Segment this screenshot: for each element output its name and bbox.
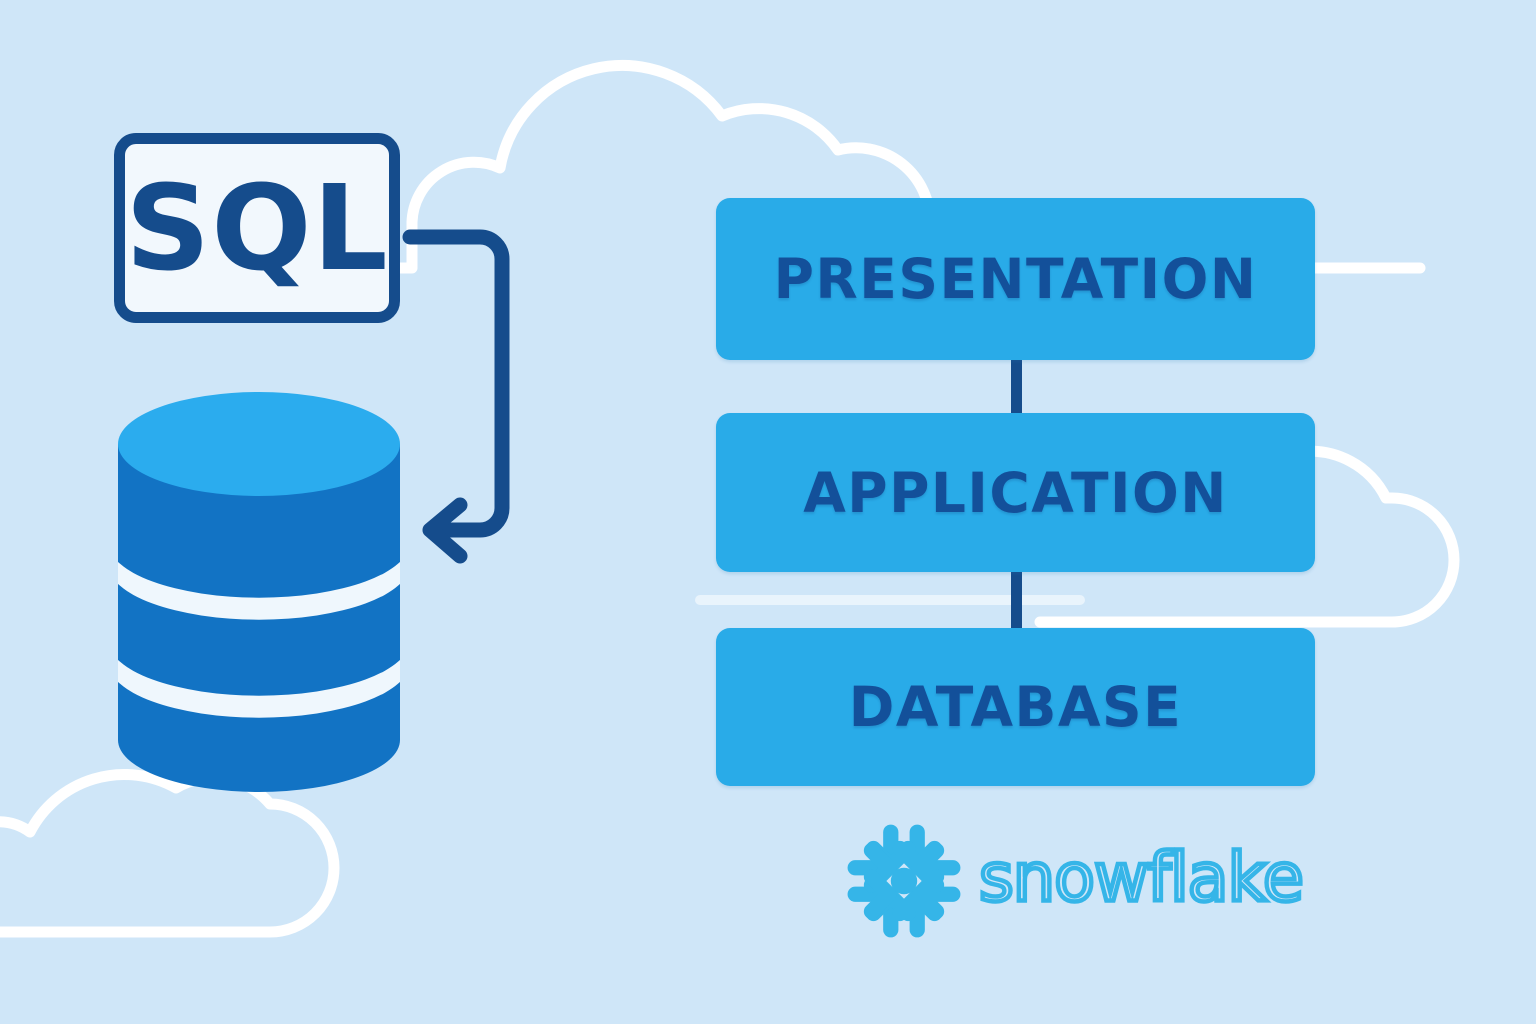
snowflake-logo[interactable]: snowflake xyxy=(843,816,1303,946)
snowflake-wordmark-text: snowflake xyxy=(979,839,1303,917)
sql-to-database-arrow xyxy=(380,200,560,580)
arrow-path xyxy=(410,237,502,530)
tier-label: DATABASE xyxy=(849,675,1182,739)
sql-card-label: SQL xyxy=(125,169,389,287)
tier-box-application[interactable]: APPLICATION xyxy=(716,413,1315,572)
tier-connector xyxy=(1011,358,1022,415)
diagram-canvas: SQL PRESENTATION APPLICATION xyxy=(0,0,1536,1024)
sql-card[interactable]: SQL xyxy=(114,133,400,323)
tier-label: APPLICATION xyxy=(803,461,1228,525)
tier-box-database[interactable]: DATABASE xyxy=(716,628,1315,786)
database-cylinder-icon xyxy=(118,392,400,792)
tier-stack: PRESENTATION APPLICATION DATABASE xyxy=(716,198,1315,786)
cloud-bottom-left-icon xyxy=(0,775,334,932)
tier-label: PRESENTATION xyxy=(774,247,1258,311)
cylinder-top xyxy=(118,392,400,496)
tier-box-presentation[interactable]: PRESENTATION xyxy=(716,198,1315,360)
snowflake-center-dot xyxy=(891,868,917,894)
snowflake-icon xyxy=(843,820,965,942)
tier-connector xyxy=(1011,570,1022,630)
snowflake-wordmark: snowflake xyxy=(979,826,1303,936)
